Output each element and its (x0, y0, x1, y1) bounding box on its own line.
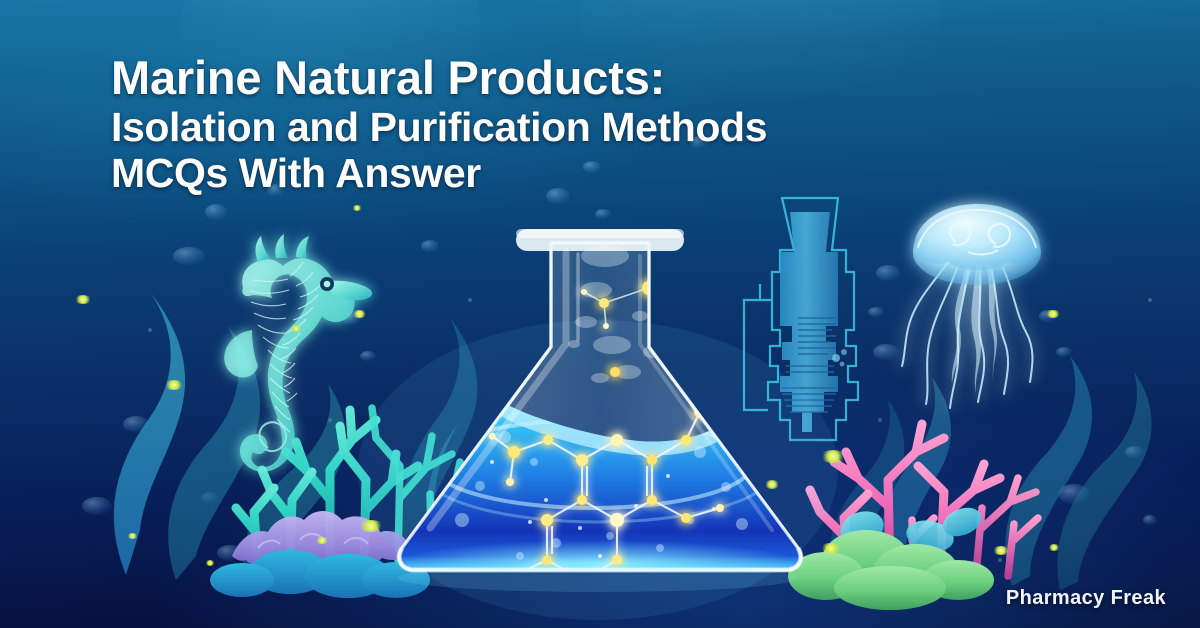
glow-particle (352, 205, 362, 211)
glow-particle (127, 533, 138, 539)
brand-label: Pharmacy Freak (1006, 587, 1166, 610)
glow-particle (1048, 544, 1060, 551)
glow-particle (764, 480, 780, 489)
glow-particle (315, 537, 329, 544)
glow-particle (290, 325, 302, 332)
glow-particle (358, 520, 384, 532)
title-line-3: MCQs With Answer (111, 150, 1151, 196)
title-line-2: Isolation and Purification Methods (111, 104, 1151, 150)
page-title: Marine Natural Products: Isolation and P… (111, 52, 1151, 196)
glow-particle (74, 295, 92, 304)
glow-particle (1045, 310, 1061, 318)
title-line-1: Marine Natural Products: (111, 52, 1151, 104)
glow-particle (992, 546, 1010, 555)
glow-particle (820, 543, 842, 554)
glow-particle (164, 380, 184, 390)
glow-particle (352, 310, 367, 318)
glow-particle (820, 450, 846, 463)
banner-canvas: Marine Natural Products: Isolation and P… (0, 0, 1200, 628)
glow-particle (205, 560, 215, 566)
